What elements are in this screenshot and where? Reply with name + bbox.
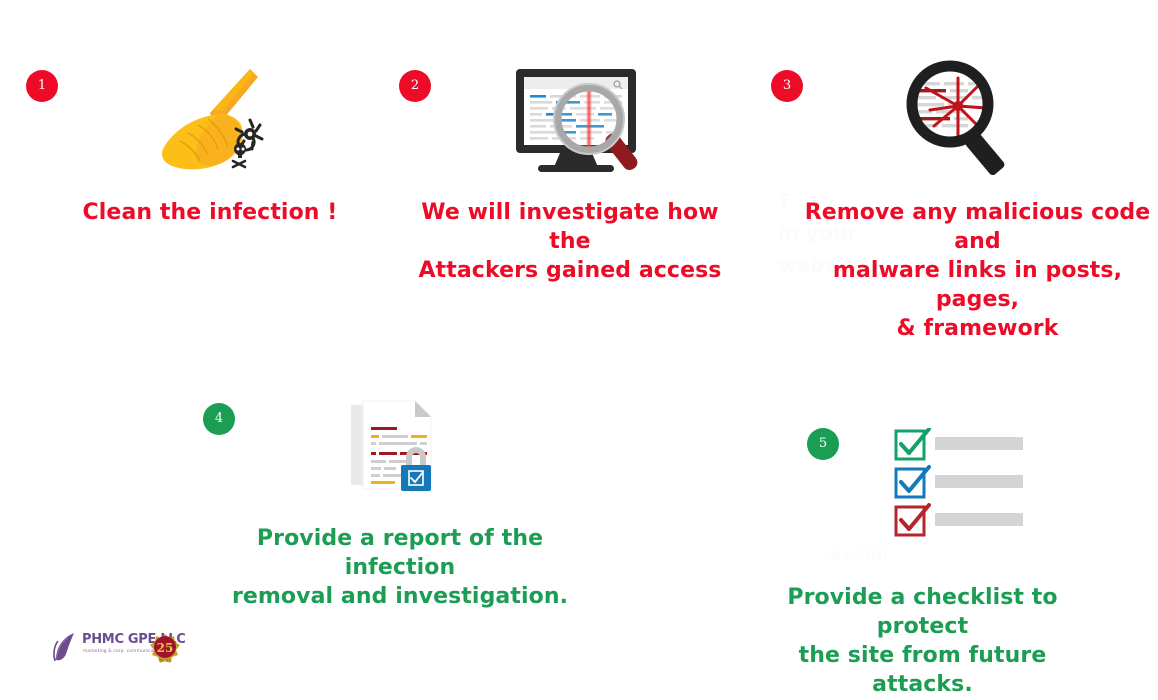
anniversary-badge: 25 Years (148, 632, 182, 670)
step-3-caption: Remove any malicious code and malware li… (790, 198, 1158, 343)
svg-text:Years: Years (157, 658, 172, 664)
monitor-magnifier-icon (512, 65, 662, 179)
step-2-number-badge: 2 (399, 70, 431, 102)
svg-text:25: 25 (157, 641, 174, 655)
magnifying-glass-malicious-code-icon (900, 58, 1022, 184)
step-2-caption: We will investigate how the Attackers ga… (400, 198, 740, 285)
logo-leaf-mark (50, 630, 80, 666)
step-4-caption: Provide a report of the infection remova… (215, 524, 585, 611)
step-5-number-badge: 5 (807, 428, 839, 460)
step-3-number-badge: 3 (771, 70, 803, 102)
step-1-number-badge: 1 (26, 70, 58, 102)
broom-sweeping-virus-icon (150, 55, 280, 184)
secured-document-report-icon (345, 397, 445, 505)
checklist-row-1 (896, 429, 1023, 459)
step-5-ghost-text: checklist (824, 548, 889, 563)
checklist-row-3 (896, 505, 1023, 535)
checklist-row-2 (896, 467, 1023, 497)
checklist-icon (893, 428, 1033, 542)
step-4-number-badge: 4 (203, 403, 235, 435)
company-logo[interactable]: PHMC GPE LLC marketing & corp. communica… (50, 630, 190, 672)
step-5-caption: Provide a checklist to protect the site … (755, 583, 1090, 699)
step-1-caption: Clean the infection ! (35, 198, 385, 227)
